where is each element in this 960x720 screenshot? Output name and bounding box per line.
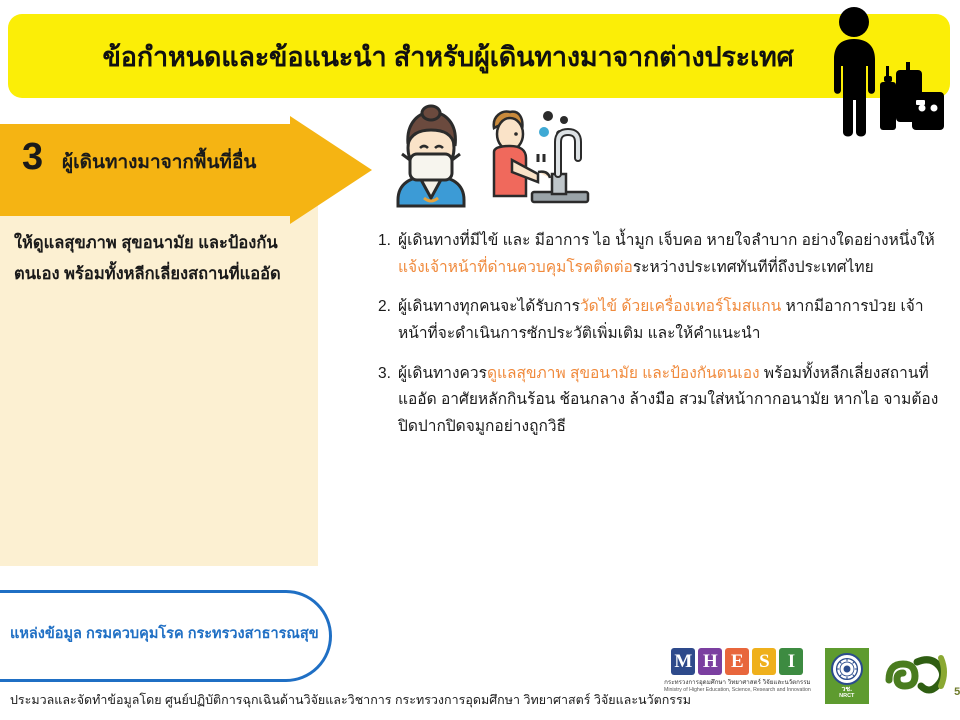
infographic-page: ข้อกำหนดและข้อแนะนำ สำหรับผู้เดินทางมาจา… (0, 0, 960, 720)
nrct-thai-label: วช. (841, 686, 852, 693)
wch-thai-mark-icon (883, 648, 960, 700)
mhesi-tile-h: H (698, 648, 722, 675)
mhesi-english-name: Ministry of Higher Education, Science, R… (664, 687, 811, 693)
text-part: ผู้เดินทางทุกคนจะได้รับการ (398, 298, 580, 315)
page-title: ข้อกำหนดและข้อแนะนำ สำหรับผู้เดินทางมาจา… (8, 14, 888, 98)
logo-row: M H E S I กระทรวงการอุดมศึกษา วิทยาศาสตร… (664, 648, 960, 704)
credits-text: ประมวลและจัดทำข้อมูลโดย ศูนย์ปฏิบัติการฉ… (10, 690, 691, 710)
list-item: 1. ผู้เดินทางที่มีไข้ และ มีอาการ ไอ น้ำ… (378, 228, 944, 281)
text-part: ผู้เดินทางควร (398, 365, 487, 382)
highlighted-text: แจ้งเจ้าหน้าที่ด่านควบคุมโรคติดต่อ (398, 259, 633, 276)
list-item-text: ผู้เดินทางที่มีไข้ และ มีอาการ ไอ น้ำมูก… (398, 228, 944, 281)
source-text: แหล่งข้อมูล กรมควบคุมโรค กระทรวงสาธารณสุ… (10, 622, 319, 645)
gear-seal-icon (834, 656, 860, 682)
highlighted-text: ดูแลสุขภาพ สุขอนามัย และป้องกันตนเอง (487, 365, 760, 382)
text-part: ระหว่างประเทศทันทีที่ถึงประเทศไทย (633, 259, 874, 276)
mhesi-letter-tiles: M H E S I (671, 648, 803, 675)
mhesi-tile-m: M (671, 648, 695, 675)
step-description: ให้ดูแลสุขภาพ สุขอนามัย และป้องกันตนเอง … (14, 228, 314, 289)
person-washing-hands-illustration (472, 104, 592, 208)
list-item: 2. ผู้เดินทางทุกคนจะได้รับการวัดไข้ ด้วย… (378, 294, 944, 347)
list-item-number: 3. (378, 361, 398, 388)
mhesi-thai-name: กระทรวงการอุดมศึกษา วิทยาศาสตร์ วิจัยและ… (664, 677, 811, 687)
mhesi-logo: M H E S I กระทรวงการอุดมศึกษา วิทยาศาสตร… (664, 648, 811, 693)
list-item-number: 1. (378, 228, 398, 255)
list-item-number: 2. (378, 294, 398, 321)
traveler-with-luggage-icon (812, 4, 952, 142)
wch-logo: 5G (883, 648, 960, 700)
person-wearing-face-mask-illustration (378, 104, 484, 210)
list-item: 3. ผู้เดินทางควรดูแลสุขภาพ สุขอนามัย และ… (378, 361, 944, 441)
nrct-logo: วช. NRCT (825, 648, 869, 704)
step-number: 3 (22, 138, 43, 176)
highlighted-text: วัดไข้ ด้วยเครื่องเทอร์โมสแกน (580, 298, 781, 315)
mhesi-tile-e: E (725, 648, 749, 675)
list-item-text: ผู้เดินทางทุกคนจะได้รับการวัดไข้ ด้วยเคร… (398, 294, 944, 347)
mhesi-tile-i: I (779, 648, 803, 675)
text-part: ผู้เดินทางที่มีไข้ และ มีอาการ ไอ น้ำมูก… (398, 232, 935, 249)
mhesi-tile-s: S (752, 648, 776, 675)
recommendations-list: 1. ผู้เดินทางที่มีไข้ และ มีอาการ ไอ น้ำ… (378, 228, 944, 454)
nrct-english-label: NRCT (839, 694, 854, 700)
step-heading: ผู้เดินทางมาจากพื้นที่อื่น (62, 147, 256, 177)
nrct-seal-icon (831, 653, 863, 685)
wch-5g-badge: 5G (954, 686, 960, 698)
list-item-text: ผู้เดินทางควรดูแลสุขภาพ สุขอนามัย และป้อ… (398, 361, 944, 441)
